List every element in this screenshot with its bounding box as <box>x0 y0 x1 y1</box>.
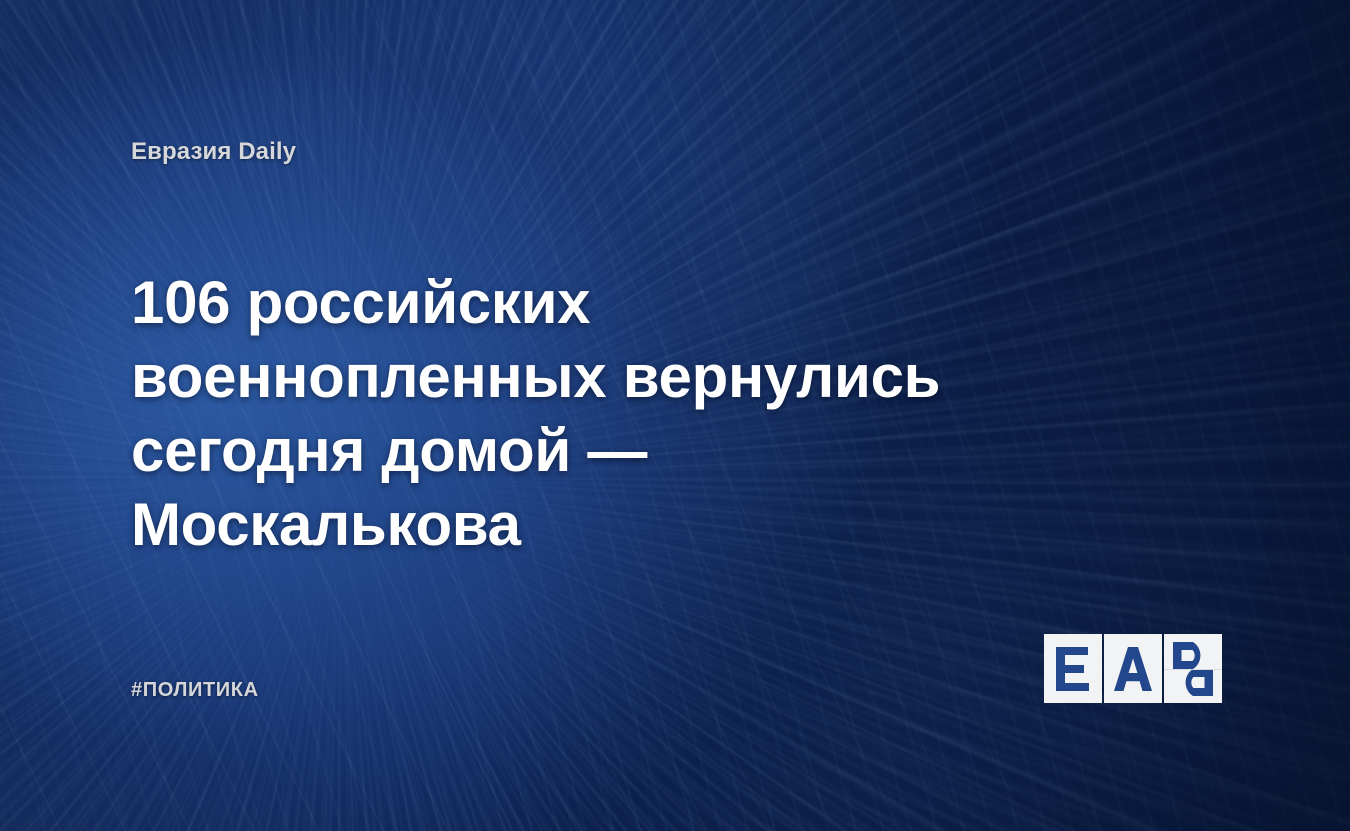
logo-split-divider <box>1164 669 1222 670</box>
logo-tile-e <box>1044 634 1102 703</box>
ead-logo[interactable] <box>1044 634 1222 703</box>
news-share-card: Евразия Daily 106 российских военнопленн… <box>0 0 1350 831</box>
category-tag[interactable]: #ПОЛИТИКА <box>131 679 259 702</box>
brand-name: Евразия Daily <box>131 138 296 166</box>
letter-e-icon <box>1056 647 1090 691</box>
headline: 106 российских военнопленных вернулись с… <box>131 266 1051 562</box>
logo-tile-a <box>1104 634 1162 703</box>
letter-a-icon <box>1114 647 1152 691</box>
card-content: Евразия Daily 106 российских военнопленн… <box>0 0 1350 831</box>
logo-tile-d-split <box>1164 634 1222 703</box>
